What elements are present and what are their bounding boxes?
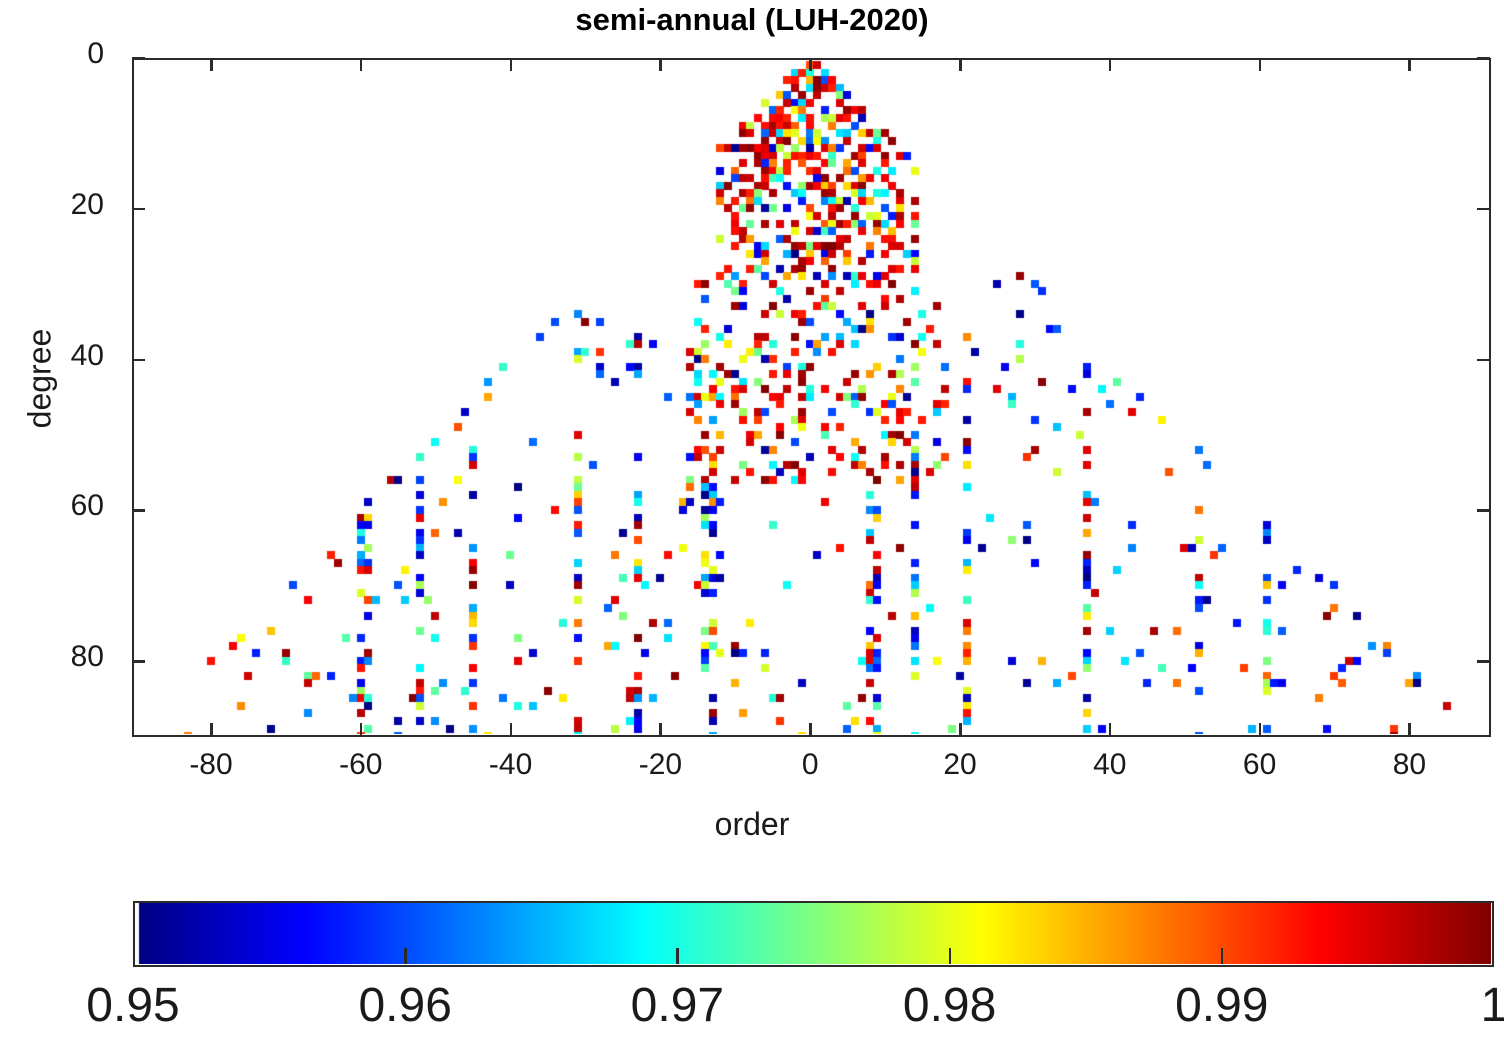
x-tick-0 [809,58,812,71]
y-tick-label-80: 80 [0,640,104,674]
x-tick-40 [1109,58,1112,71]
x-tick--60 [360,58,363,71]
colorbar-label-1: 1 [1394,978,1504,1033]
figure-root: semi-annual (LUH-2020) -80-60-40-2002040… [0,0,1504,1050]
x-tick--80 [210,58,213,71]
colorbar-tick-0.99 [1221,948,1224,964]
x-tick--40 [510,58,513,71]
y-axis-title: degree [22,279,59,479]
y-tick-80 [1477,660,1490,663]
x-tick-80 [1408,723,1411,736]
x-tick-label--40: -40 [441,748,581,782]
scatter-heatmap-canvas [134,60,1488,734]
x-tick-0 [809,723,812,736]
y-tick-60 [1477,509,1490,512]
y-tick-label-0: 0 [0,37,104,71]
colorbar[interactable] [133,901,1494,967]
x-tick-label-40: 40 [1040,748,1180,782]
x-tick-60 [1259,58,1262,71]
x-tick--80 [210,723,213,736]
colorbar-tick-0.97 [676,948,679,964]
colorbar-label-0.97: 0.97 [577,978,777,1033]
x-tick--40 [510,723,513,736]
colorbar-gradient [135,903,1491,964]
x-tick-label--20: -20 [590,748,730,782]
colorbar-label-0.99: 0.99 [1122,978,1322,1033]
y-tick-20 [132,208,145,211]
y-tick-label-20: 20 [0,188,104,222]
colorbar-tick-0.98 [949,948,952,964]
y-tick-0 [1477,57,1490,60]
x-tick-label-80: 80 [1339,748,1479,782]
x-tick-label--80: -80 [141,748,281,782]
y-tick-40 [132,359,145,362]
y-tick-80 [132,660,145,663]
x-tick-label--60: -60 [291,748,431,782]
x-tick-label-20: 20 [890,748,1030,782]
y-tick-label-60: 60 [0,489,104,523]
x-axis-title: order [0,806,1504,843]
x-tick-label-60: 60 [1190,748,1330,782]
colorbar-tick-0.96 [404,948,407,964]
colorbar-label-0.96: 0.96 [305,978,505,1033]
y-tick-20 [1477,208,1490,211]
x-tick-80 [1408,58,1411,71]
colorbar-label-0.95: 0.95 [33,978,233,1033]
y-tick-40 [1477,359,1490,362]
x-tick-60 [1259,723,1262,736]
x-tick--20 [659,58,662,71]
x-tick-40 [1109,723,1112,736]
colorbar-label-0.98: 0.98 [850,978,1050,1033]
x-tick-20 [959,58,962,71]
x-tick--20 [659,723,662,736]
chart-title: semi-annual (LUH-2020) [0,2,1504,38]
y-tick-0 [132,57,145,60]
y-tick-60 [132,509,145,512]
x-tick--60 [360,723,363,736]
plot-axes [132,58,1491,737]
x-tick-label-0: 0 [740,748,880,782]
x-tick-20 [959,723,962,736]
